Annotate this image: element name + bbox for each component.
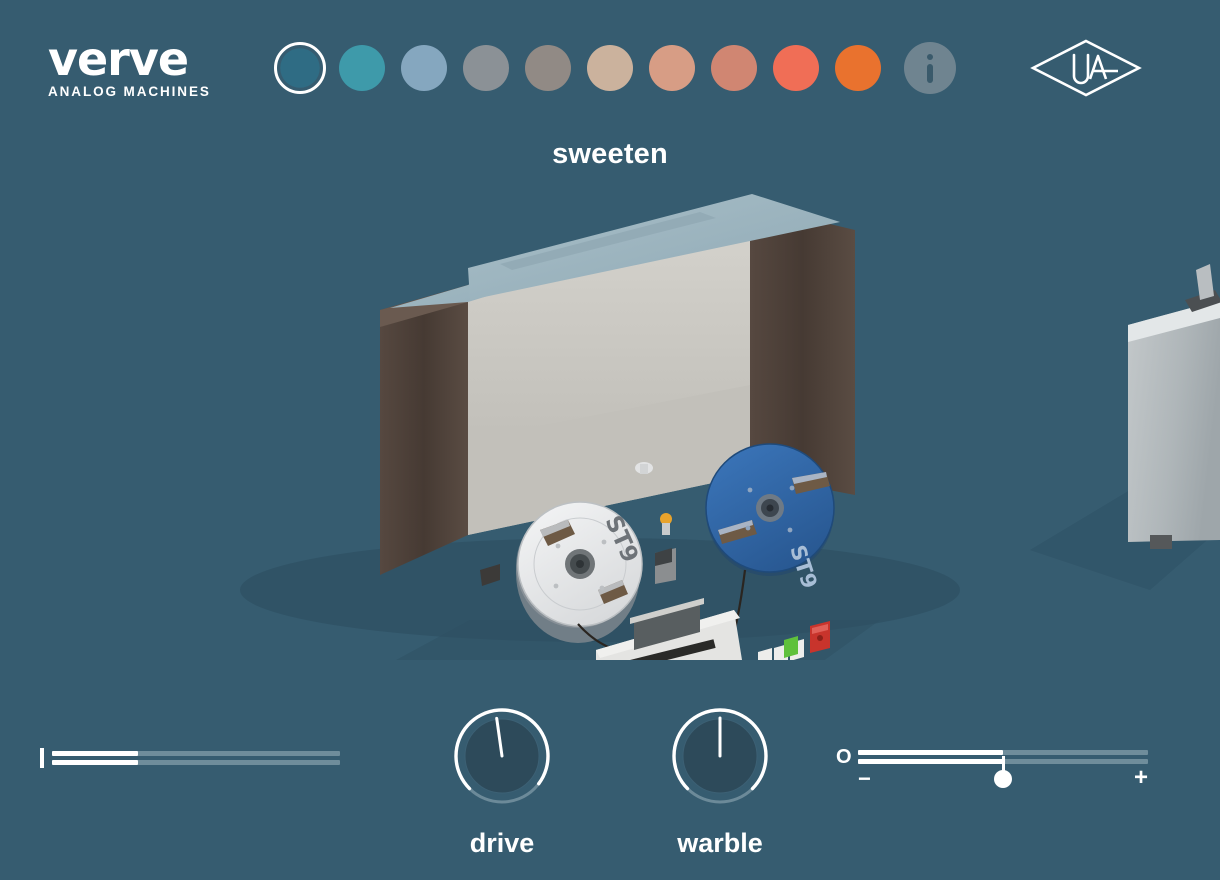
swatch-dusty-rose-fill: [711, 45, 757, 91]
output-balance-handle[interactable]: [994, 770, 1012, 788]
brand-wordmark: verve: [48, 36, 230, 82]
swatch-gray[interactable]: [460, 42, 512, 94]
output-balance-fill-top: [858, 750, 1003, 755]
swatch-tan[interactable]: [584, 42, 636, 94]
swatch-orange[interactable]: [832, 42, 884, 94]
input-level-track[interactable]: [52, 751, 340, 767]
preset-title: sweeten: [0, 138, 1220, 171]
output-balance-plus-label[interactable]: +: [1134, 769, 1148, 787]
swatch-warm-gray-fill: [525, 45, 571, 91]
output-balance-bar-top[interactable]: [858, 750, 1148, 755]
plugin-window: verve ANALOG MACHINES sweeten: [0, 0, 1220, 880]
swatch-tan-fill: [587, 45, 633, 91]
swatch-dark-teal[interactable]: [274, 42, 326, 94]
brand-tagline: ANALOG MACHINES: [48, 85, 230, 99]
warble-knob-label: warble: [640, 828, 800, 859]
warble-knob[interactable]: [670, 706, 770, 806]
drive-knob-label: drive: [422, 828, 582, 859]
info-icon[interactable]: [904, 42, 956, 94]
swatch-teal[interactable]: [336, 42, 388, 94]
swatch-gray-fill: [463, 45, 509, 91]
input-level-slider[interactable]: [36, 742, 346, 778]
input-level-tick-icon: [40, 748, 44, 768]
swatch-coral-fill: [773, 45, 819, 91]
warble-knob-group[interactable]: warble: [640, 706, 800, 859]
machine-stage[interactable]: ST9 ST9: [0, 190, 1220, 660]
color-swatch-row: [274, 42, 956, 94]
drive-knob[interactable]: [452, 706, 552, 806]
drive-knob-group[interactable]: drive: [422, 706, 582, 859]
output-balance-fill-bottom: [858, 759, 1003, 764]
input-level-fill-bottom: [52, 760, 138, 765]
swatch-dusty-rose[interactable]: [708, 42, 760, 94]
swatch-peach[interactable]: [646, 42, 698, 94]
input-level-fill-top: [52, 751, 138, 756]
machine-illustration[interactable]: ST9 ST9: [0, 190, 1220, 660]
swatch-teal-fill: [339, 45, 385, 91]
next-machine-preview: [1030, 264, 1220, 590]
swatch-orange-fill: [835, 45, 881, 91]
input-level-bar-top[interactable]: [52, 751, 340, 756]
output-balance-minus-label[interactable]: −: [858, 770, 871, 788]
info-icon-stem: [927, 64, 933, 83]
brand-logo: verve ANALOG MACHINES: [48, 36, 230, 100]
output-balance-slider[interactable]: O − +: [836, 742, 1156, 790]
swatch-peach-fill: [649, 45, 695, 91]
swatch-warm-gray[interactable]: [522, 42, 574, 94]
universal-audio-logo-icon: [1030, 38, 1142, 98]
output-balance-start-label: O: [836, 746, 852, 769]
swatch-steel-blue-fill: [401, 45, 447, 91]
info-icon-dot: [927, 54, 933, 60]
input-level-bar-bottom[interactable]: [52, 760, 340, 765]
top-bar: verve ANALOG MACHINES: [0, 0, 1220, 136]
swatch-dark-teal-fill: [280, 48, 320, 88]
swatch-coral[interactable]: [770, 42, 822, 94]
swatch-steel-blue[interactable]: [398, 42, 450, 94]
